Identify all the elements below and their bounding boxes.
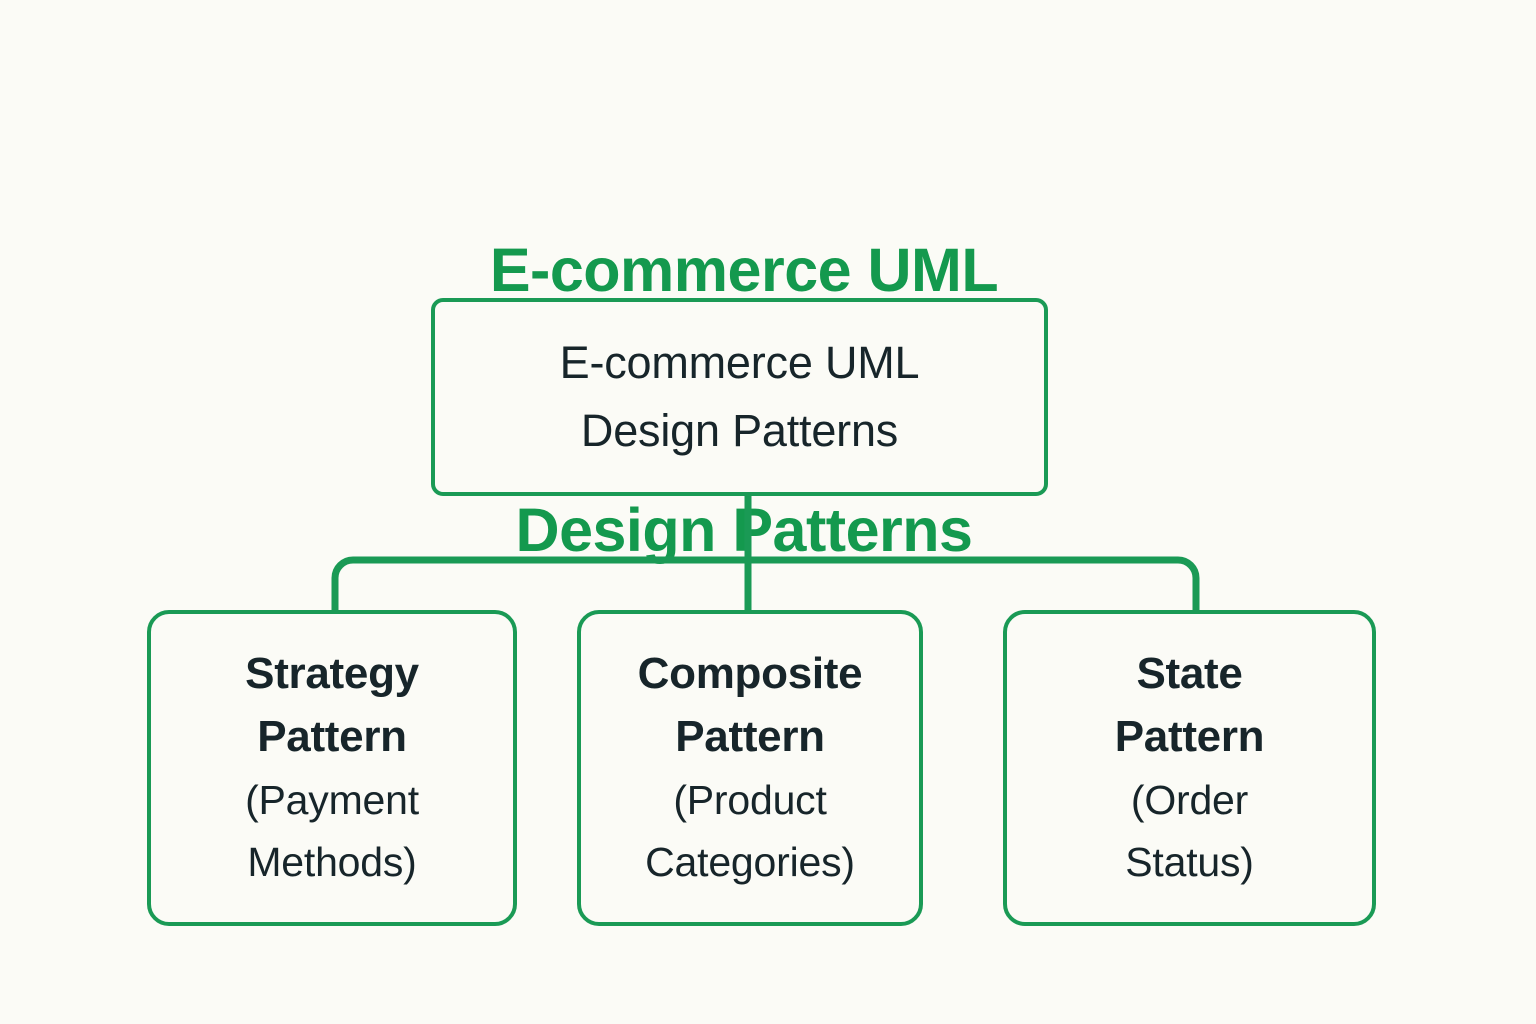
node-state-pattern-name: State Pattern (1115, 643, 1265, 769)
node-root-title: E-commerce UML Design Patterns (560, 329, 920, 466)
node-composite-pattern[interactable]: Composite Pattern (Product Categories) (577, 610, 923, 926)
node-strategy-pattern-name: Strategy Pattern (245, 643, 419, 769)
node-strategy-pattern-detail: (Payment Methods) (245, 769, 419, 894)
node-strategy-pattern[interactable]: Strategy Pattern (Payment Methods) (147, 610, 517, 926)
node-composite-pattern-name: Composite Pattern (638, 643, 863, 769)
node-state-pattern[interactable]: State Pattern (Order Status) (1003, 610, 1376, 926)
node-composite-pattern-detail: (Product Categories) (645, 769, 855, 894)
page-title-line-2: Design Patterns (0, 487, 1488, 574)
node-root[interactable]: E-commerce UML Design Patterns (431, 298, 1048, 496)
node-state-pattern-detail: (Order Status) (1125, 769, 1254, 894)
diagram-canvas: E-commerce UML Design Patterns E-commerc… (0, 0, 1536, 1024)
